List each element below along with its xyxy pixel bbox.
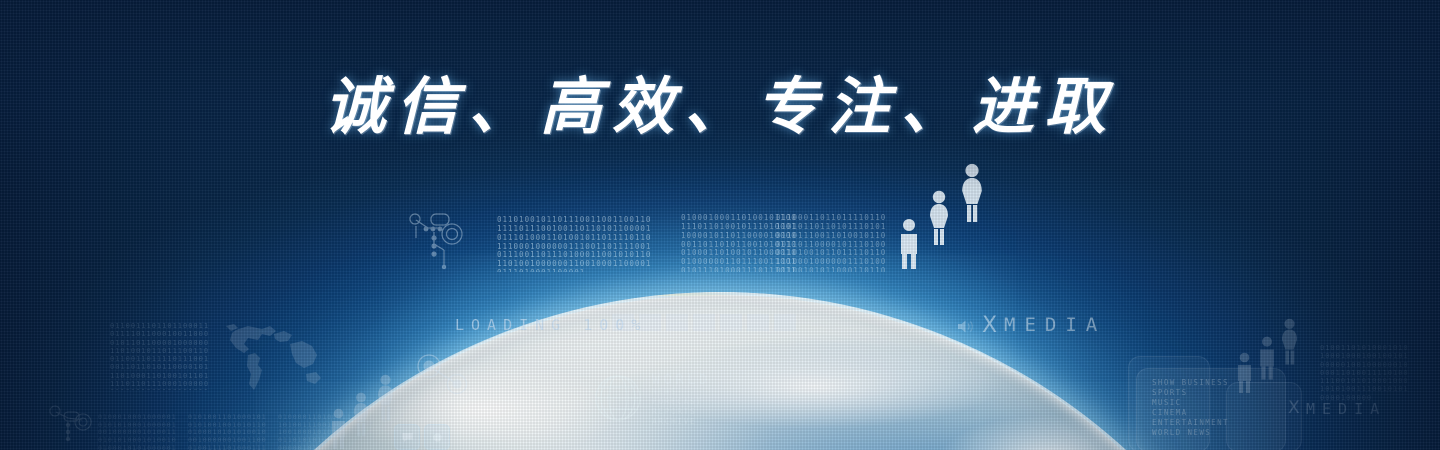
page-title: 诚信、高效、专注、进取: [0, 56, 1440, 146]
hero-banner: 0110100101101110011001100110111101110010…: [0, 0, 1440, 450]
